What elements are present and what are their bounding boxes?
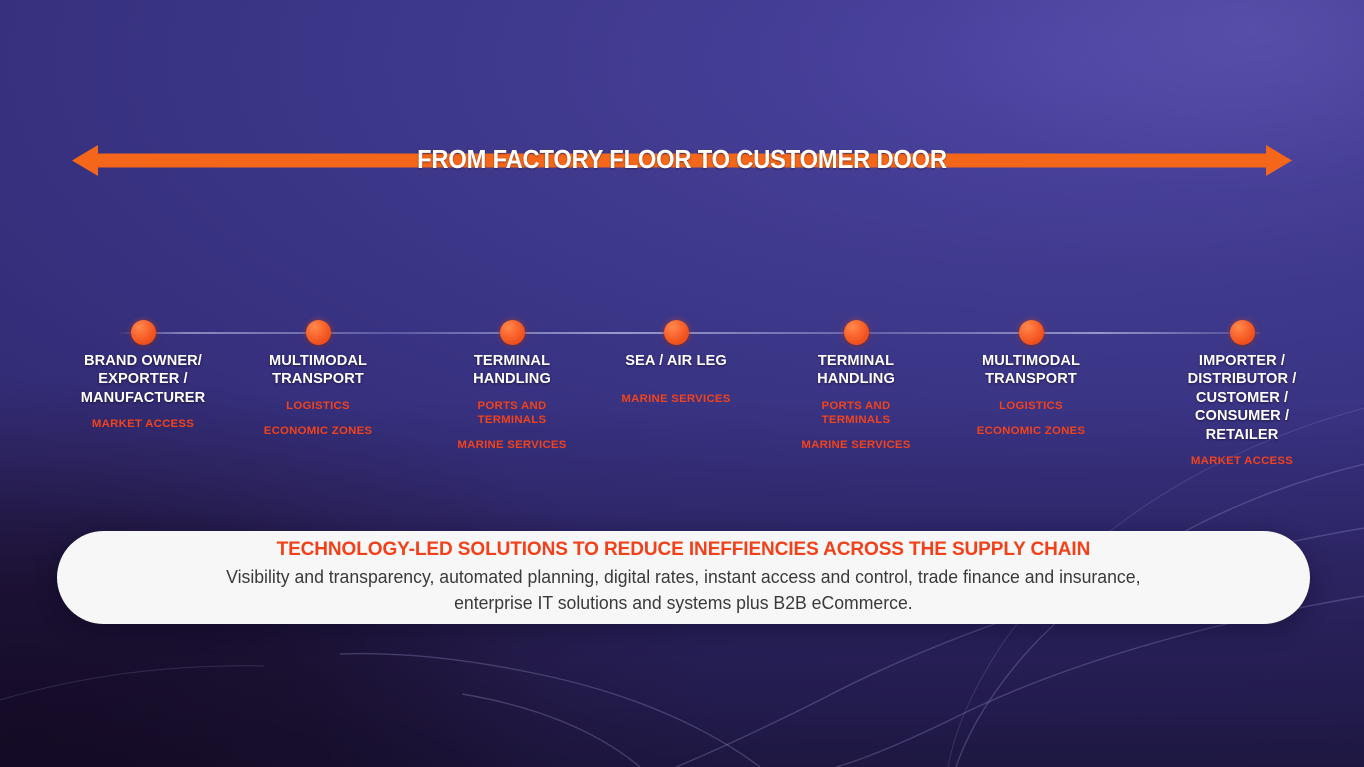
node-text-block: BRAND OWNER/ EXPORTER / MANUFACTURER MAR… — [43, 352, 243, 431]
callout-body-line-1: Visibility and transparency, automated p… — [226, 565, 1140, 591]
node-tag: LOGISTICS — [218, 399, 418, 413]
slide-headline: FROM FACTORY FLOOR TO CUSTOMER DOOR — [115, 143, 1250, 178]
node-tag-group: PORTS AND TERMINALS MARINE SERVICES — [412, 399, 612, 453]
node-title-line: IMPORTER / — [1142, 352, 1342, 370]
node-title-line: EXPORTER / — [43, 370, 243, 388]
node-title-line: RETAILER — [1142, 426, 1342, 444]
slide-canvas: FROM FACTORY FLOOR TO CUSTOMER DOOR — [0, 0, 1364, 767]
node-tag: ECONOMIC ZONES — [218, 424, 418, 438]
node-title-line: MULTIMODAL — [218, 352, 418, 370]
node-tag-group: MARKET ACCESS — [1142, 454, 1342, 468]
node-tag: MARINE SERVICES — [576, 392, 776, 406]
node-tag: MARINE SERVICES — [756, 438, 956, 452]
node-title-line: CUSTOMER / — [1142, 389, 1342, 407]
node-text-block: SEA / AIR LEG MARINE SERVICES — [576, 352, 776, 407]
timeline-dot[interactable] — [131, 320, 156, 345]
node-tag: ECONOMIC ZONES — [931, 424, 1131, 438]
timeline-track — [120, 332, 1260, 334]
node-tag: MARKET ACCESS — [43, 417, 243, 431]
node-title-line: SEA / AIR LEG — [576, 352, 776, 370]
node-title: MULTIMODAL TRANSPORT — [218, 352, 418, 389]
node-title: BRAND OWNER/ EXPORTER / MANUFACTURER — [43, 352, 243, 407]
timeline-dot[interactable] — [1230, 320, 1255, 345]
node-tag-group: MARKET ACCESS — [43, 417, 243, 431]
node-text-block: MULTIMODAL TRANSPORT LOGISTICS ECONOMIC … — [931, 352, 1131, 438]
node-title-line: BRAND OWNER/ — [43, 352, 243, 370]
timeline-dot[interactable] — [844, 320, 869, 345]
technology-callout-panel: TECHNOLOGY-LED SOLUTIONS TO REDUCE INEFF… — [57, 531, 1310, 624]
node-title: SEA / AIR LEG — [576, 352, 776, 370]
callout-heading: TECHNOLOGY-LED SOLUTIONS TO REDUCE INEFF… — [277, 538, 1091, 561]
node-tag: MARKET ACCESS — [1142, 454, 1342, 468]
node-tag: MARINE SERVICES — [412, 438, 612, 452]
timeline-dot[interactable] — [500, 320, 525, 345]
node-text-block: MULTIMODAL TRANSPORT LOGISTICS ECONOMIC … — [218, 352, 418, 438]
timeline-dot[interactable] — [1019, 320, 1044, 345]
node-tag: LOGISTICS — [931, 399, 1131, 413]
node-tag-group: LOGISTICS ECONOMIC ZONES — [931, 399, 1131, 439]
callout-body-line-2: enterprise IT solutions and systems plus… — [454, 591, 913, 617]
node-title-line: DISTRIBUTOR / — [1142, 370, 1342, 388]
node-title-line: TRANSPORT — [218, 370, 418, 388]
node-tag-group: PORTS AND TERMINALS MARINE SERVICES — [756, 399, 956, 453]
node-title: IMPORTER / DISTRIBUTOR / CUSTOMER / CONS… — [1142, 352, 1342, 444]
node-text-block: TERMINAL HANDLING PORTS AND TERMINALS MA… — [756, 352, 956, 453]
node-text-block: IMPORTER / DISTRIBUTOR / CUSTOMER / CONS… — [1142, 352, 1342, 468]
node-title-line: TRANSPORT — [931, 370, 1131, 388]
node-title-line: CONSUMER / — [1142, 407, 1342, 425]
node-tag: PORTS AND TERMINALS — [808, 399, 904, 428]
node-title-line: TERMINAL — [756, 352, 956, 370]
node-title: MULTIMODAL TRANSPORT — [931, 352, 1131, 389]
node-title-line: HANDLING — [756, 370, 956, 388]
timeline-dot[interactable] — [306, 320, 331, 345]
node-title-line: MANUFACTURER — [43, 389, 243, 407]
node-tag-group: MARINE SERVICES — [576, 392, 776, 406]
headline-arrow-band: FROM FACTORY FLOOR TO CUSTOMER DOOR — [72, 143, 1292, 178]
timeline-dot[interactable] — [664, 320, 689, 345]
node-title-line: MULTIMODAL — [931, 352, 1131, 370]
node-tag: PORTS AND TERMINALS — [464, 399, 560, 428]
node-title: TERMINAL HANDLING — [756, 352, 956, 389]
node-tag-group: LOGISTICS ECONOMIC ZONES — [218, 399, 418, 439]
